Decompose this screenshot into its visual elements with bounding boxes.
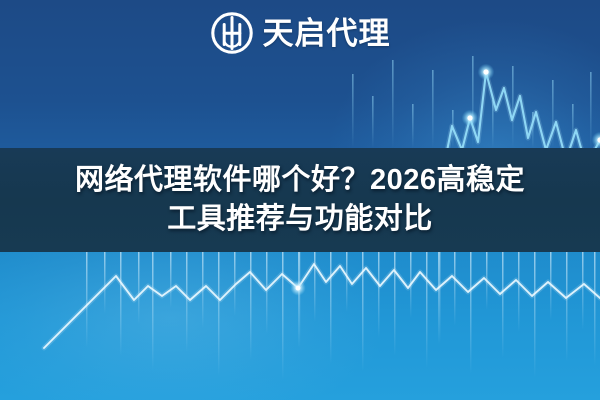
- promo-banner: 天启代理 网络代理软件哪个好？2026高稳定 工具推荐与功能对比: [0, 0, 600, 400]
- page-title-line-2: 工具推荐与功能对比: [167, 200, 433, 239]
- brand-header: 天启代理: [0, 6, 600, 60]
- tianqi-circle-monogram-icon: [210, 11, 254, 55]
- page-title-line-1: 网络代理软件哪个好？2026高稳定: [75, 161, 525, 200]
- brand-name: 天启代理: [263, 18, 391, 49]
- title-band: 网络代理软件哪个好？2026高稳定 工具推荐与功能对比: [0, 148, 600, 252]
- bottom-background: [0, 252, 600, 400]
